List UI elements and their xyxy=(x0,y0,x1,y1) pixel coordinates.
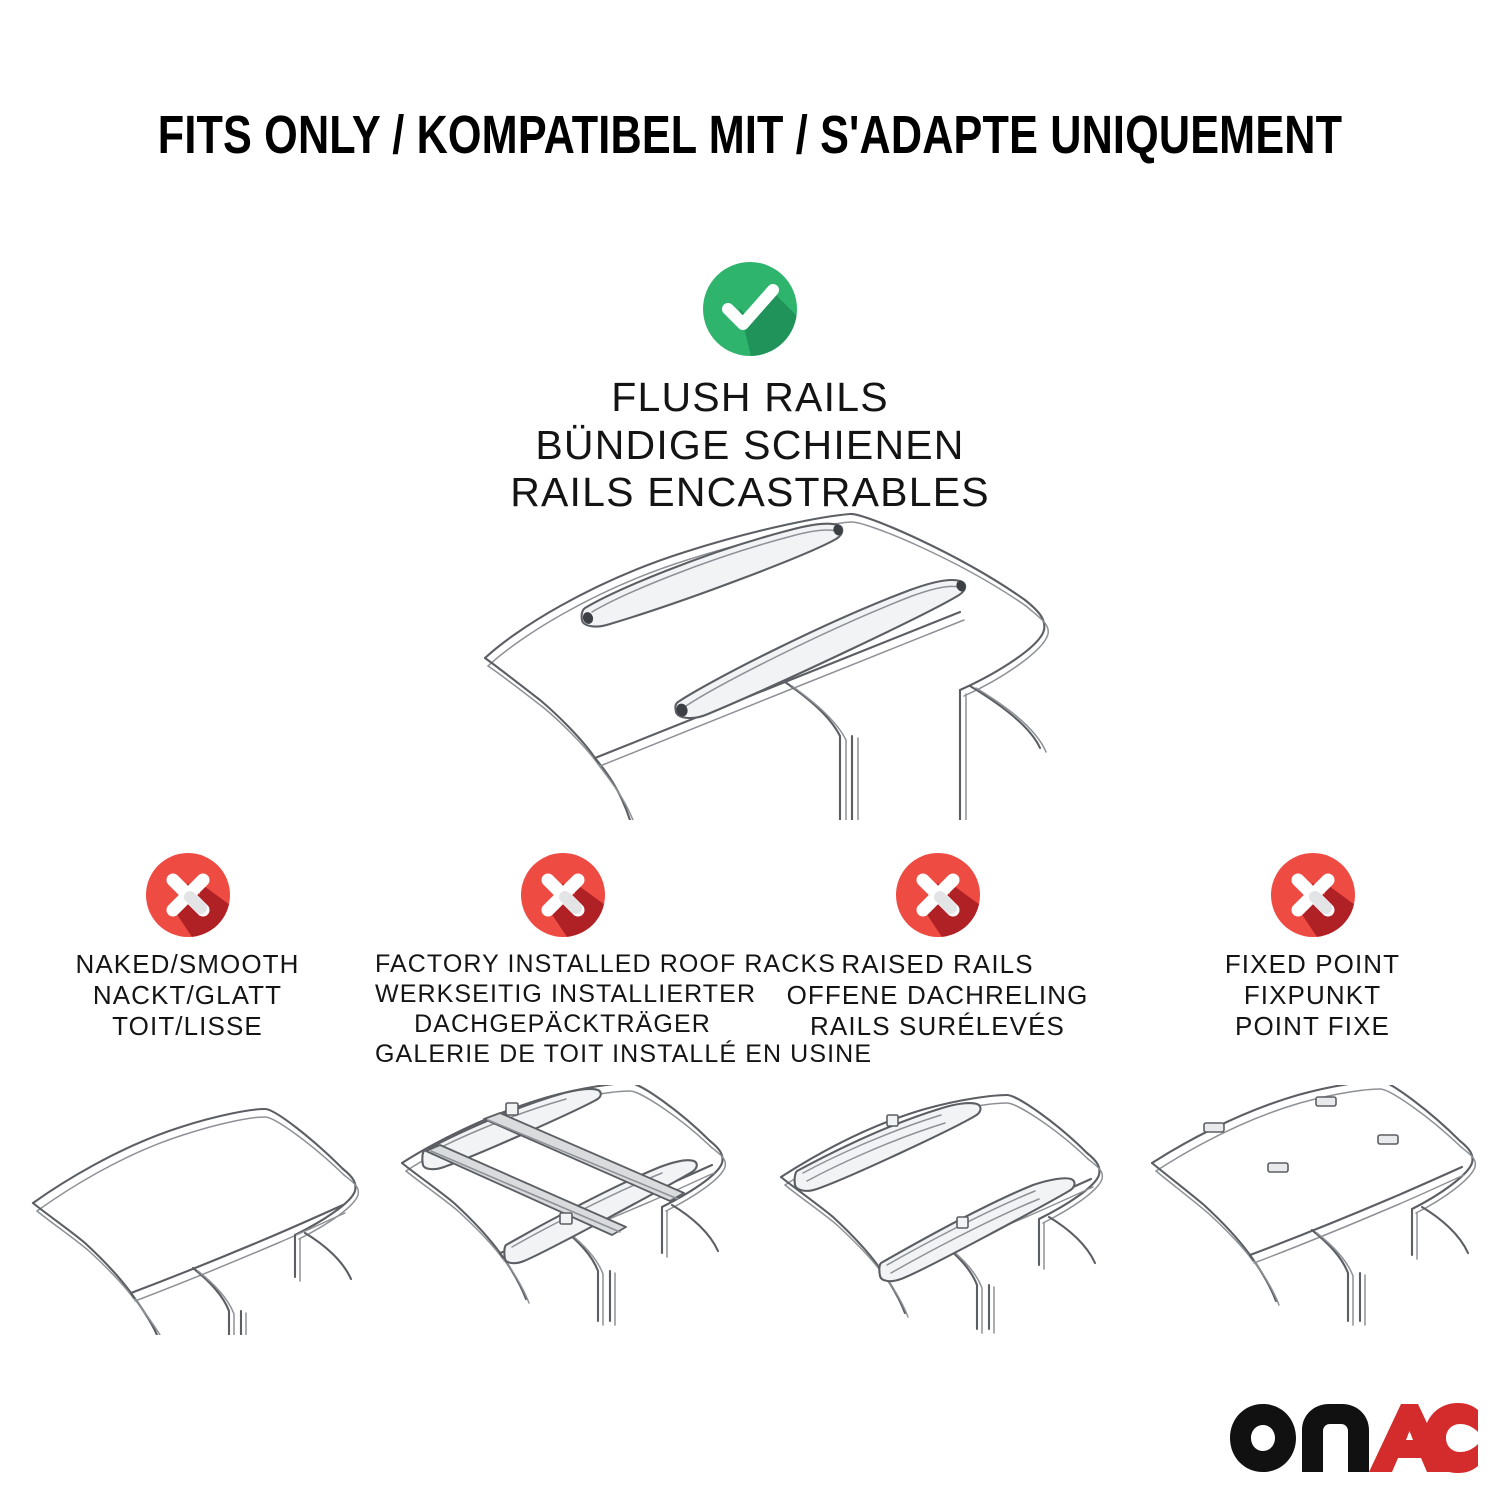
compatible-label-en: FLUSH RAILS xyxy=(250,374,1250,422)
label-en: FACTORY INSTALLED ROOF RACKS xyxy=(375,949,750,979)
omac-logo xyxy=(1228,1398,1480,1476)
label-en: RAISED RAILS xyxy=(750,949,1125,980)
incompatible-columns: NAKED/SMOOTH NACKT/GLATT TOIT/LISSE xyxy=(0,845,1500,1365)
car-roof-naked-smooth-illustration xyxy=(0,1085,375,1345)
label-en: NAKED/SMOOTH xyxy=(0,949,375,980)
car-roof-factory-roof-racks-illustration xyxy=(375,1085,750,1345)
label-de: OFFENE DACHRELING xyxy=(750,980,1125,1011)
compatible-label-de: BÜNDIGE SCHIENEN xyxy=(250,422,1250,470)
label-de: NACKT/GLATT xyxy=(0,980,375,1011)
label-fr: GALERIE DE TOIT INSTALLÉ EN USINE xyxy=(375,1039,750,1069)
x-circle-icon xyxy=(521,853,605,937)
column-labels: FIXED POINT FIXPUNKT POINT FIXE xyxy=(1125,949,1500,1043)
incompatible-column-naked-smooth: NAKED/SMOOTH NACKT/GLATT TOIT/LISSE xyxy=(0,845,375,1365)
x-circle-icon xyxy=(146,853,230,937)
car-roof-flush-rails-illustration xyxy=(440,490,1080,820)
car-roof-raised-rails-illustration xyxy=(750,1085,1125,1345)
column-labels: FACTORY INSTALLED ROOF RACKS WERKSEITIG … xyxy=(375,949,750,1069)
incompatible-column-raised-rails: RAISED RAILS OFFENE DACHRELING RAILS SUR… xyxy=(750,845,1125,1365)
car-roof-fixed-point-illustration xyxy=(1125,1085,1500,1345)
label-fr: TOIT/LISSE xyxy=(0,1011,375,1042)
label-de-1: WERKSEITIG INSTALLIERTER xyxy=(375,979,750,1009)
check-circle-icon xyxy=(703,262,797,356)
incompatible-column-factory-roof-racks: FACTORY INSTALLED ROOF RACKS WERKSEITIG … xyxy=(375,845,750,1365)
column-labels: NAKED/SMOOTH NACKT/GLATT TOIT/LISSE xyxy=(0,949,375,1043)
page-title: FITS ONLY / KOMPATIBEL MIT / S'ADAPTE UN… xyxy=(150,104,1350,166)
label-de: FIXPUNKT xyxy=(1125,980,1500,1011)
x-circle-icon xyxy=(1271,853,1355,937)
compatible-block: FLUSH RAILS BÜNDIGE SCHIENEN RAILS ENCAS… xyxy=(250,262,1250,517)
label-fr: POINT FIXE xyxy=(1125,1011,1500,1042)
label-de-2: DACHGEPÄCKTRÄGER xyxy=(375,1009,750,1039)
column-labels: RAISED RAILS OFFENE DACHRELING RAILS SUR… xyxy=(750,949,1125,1043)
x-circle-icon xyxy=(896,853,980,937)
label-fr: RAILS SURÉLEVÉS xyxy=(750,1011,1125,1042)
incompatible-column-fixed-point: FIXED POINT FIXPUNKT POINT FIXE xyxy=(1125,845,1500,1365)
label-en: FIXED POINT xyxy=(1125,949,1500,980)
